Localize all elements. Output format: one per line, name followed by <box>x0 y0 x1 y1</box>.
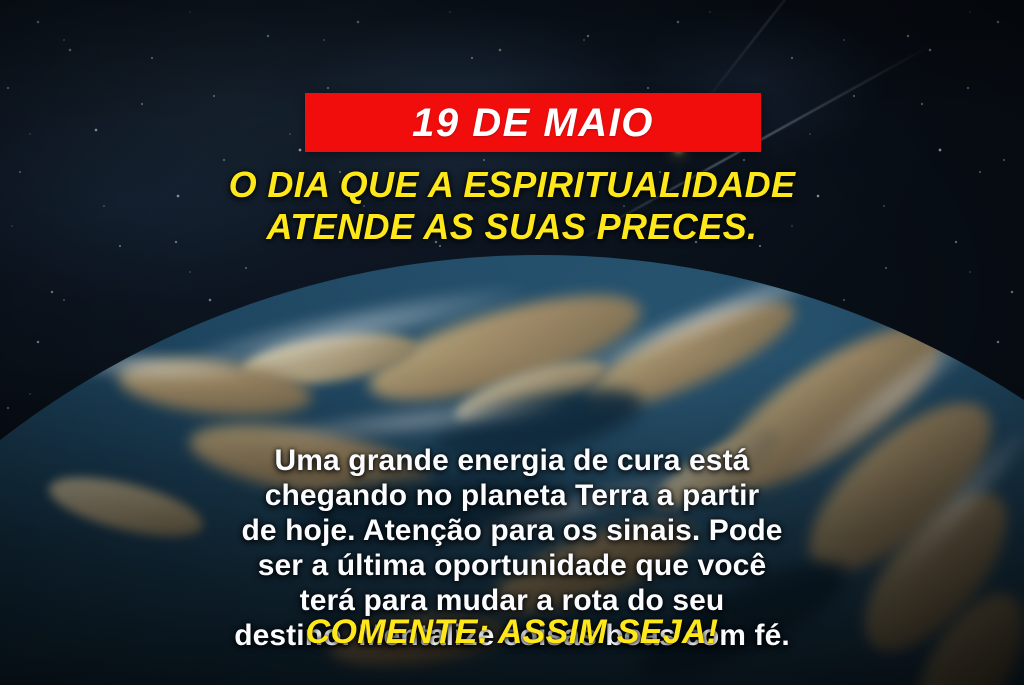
poster-content: 19 DE MAIO O DIA QUE A ESPIRITUALIDADE A… <box>0 0 1024 685</box>
headline-line-1: O DIA QUE A ESPIRITUALIDADE <box>0 164 1024 206</box>
headline-line-2: ATENDE AS SUAS PRECES. <box>0 206 1024 248</box>
date-banner-text: 19 DE MAIO <box>412 103 654 143</box>
date-banner: 19 DE MAIO <box>305 93 761 152</box>
call-to-action-text: COMENTE: ASSIM SEJA! <box>0 615 1024 649</box>
body-line-1: Uma grande energia de cura está <box>0 443 1024 478</box>
body-line-4: ser a última oportunidade que você <box>0 548 1024 583</box>
social-media-poster: 19 DE MAIO O DIA QUE A ESPIRITUALIDADE A… <box>0 0 1024 685</box>
body-line-3: de hoje. Atenção para os sinais. Pode <box>0 513 1024 548</box>
headline: O DIA QUE A ESPIRITUALIDADE ATENDE AS SU… <box>0 164 1024 248</box>
body-line-2: chegando no planeta Terra a partir <box>0 478 1024 513</box>
